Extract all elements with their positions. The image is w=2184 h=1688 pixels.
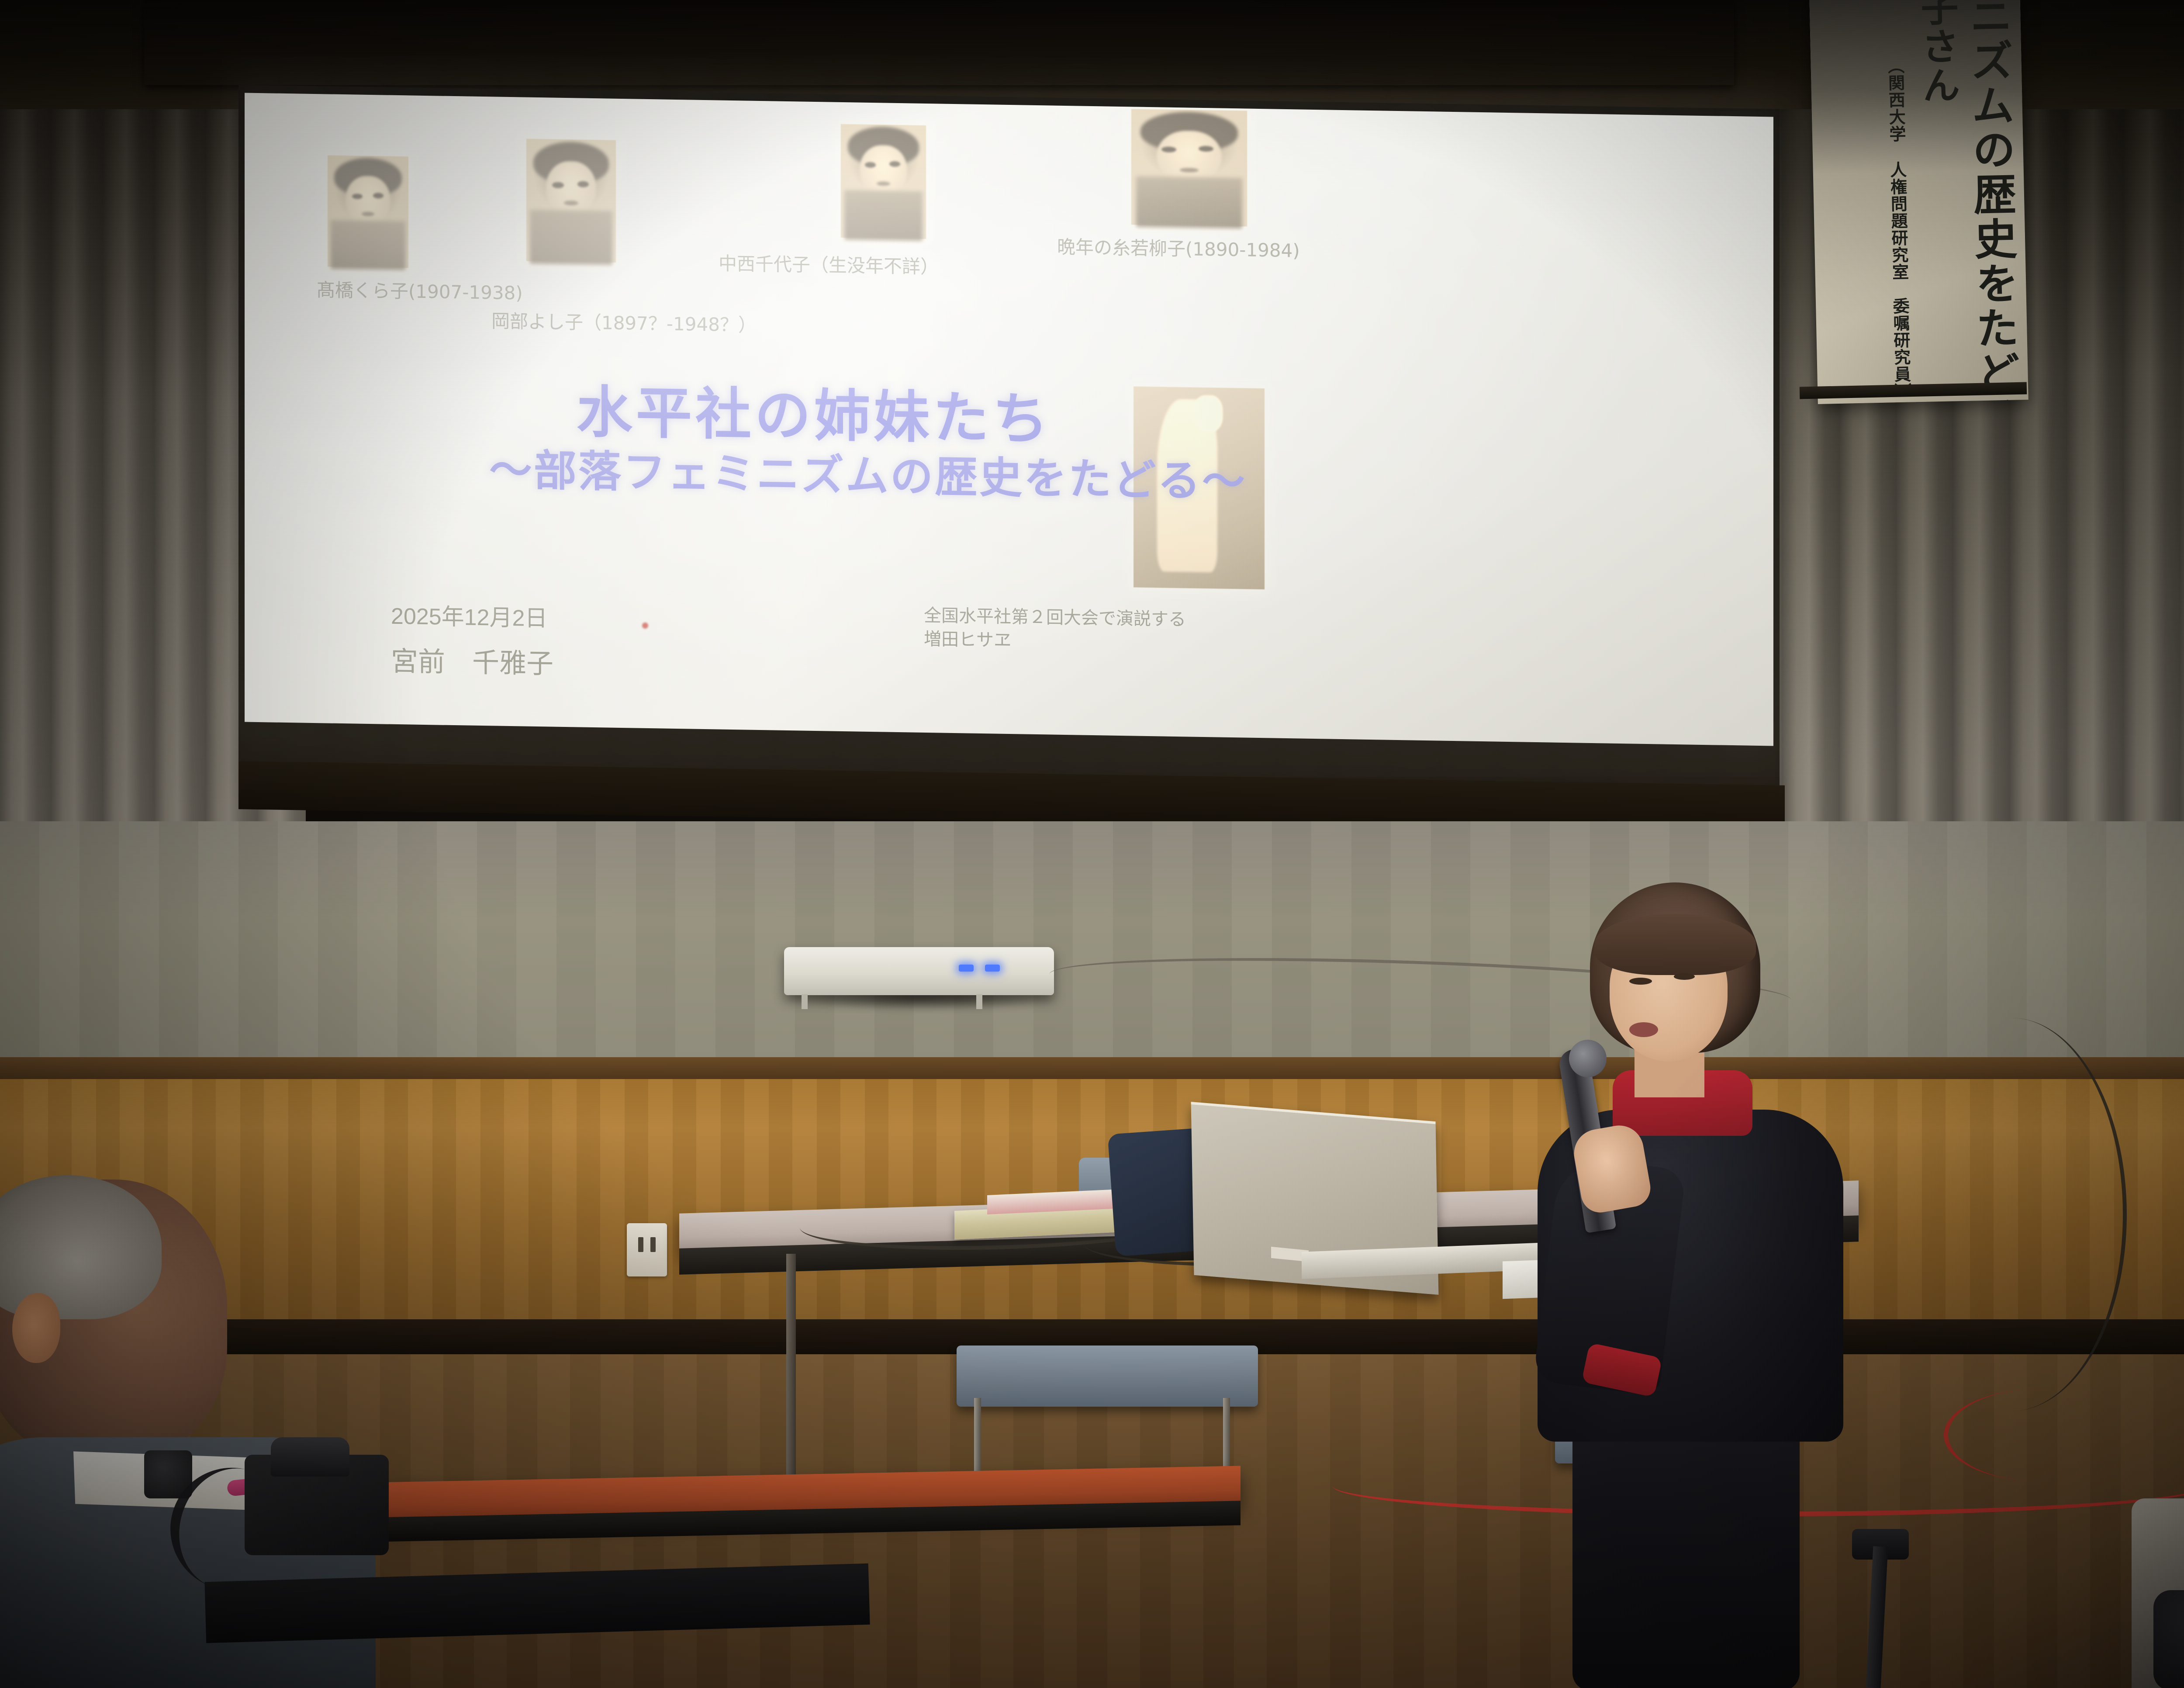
projector-lamp-led [985,965,1000,972]
lecture-hall-photo: 髙橋くら子(1907-1938) 岡部よし子（1897？-1948？） 中西千代… [0,0,2184,1688]
presenter-mouth [1629,1022,1658,1037]
event-banner: ニズムの歴史をたどる 子さん （関西大学 人権問題研究室 委嘱研究員） [1809,0,2028,404]
slide-right-photo-caption: 全国水平社第２回大会で演説する 増田ヒサヱ [924,604,1186,655]
outlet-slot-left [638,1237,643,1252]
laser-pointer-dot [642,623,648,629]
projector-feet [793,994,1046,1009]
presenter-table-leg-left [786,1254,796,1481]
banner-affiliation-text: （関西大学 人権問題研究室 委嘱研究員） [1883,57,1911,400]
outlet-slot-right [650,1237,656,1252]
projection-screen: 髙橋くら子(1907-1938) 岡部よし子（1897？-1948？） 中西千代… [245,93,1773,746]
slide-presenter: 宮前 千雅子 [391,639,553,681]
projector-foot-left [802,994,808,1009]
projector [784,947,1054,995]
slide-portrait-1 [328,155,408,268]
foreground-right-dark-object [2153,1590,2184,1688]
audience-ear [12,1293,60,1363]
valance-faint-text [188,3,546,34]
banner-name-text: 子さん [1916,0,1956,105]
slide-date: 2025年12月2日 [391,598,547,633]
chair-seat-center[interactable] [957,1346,1258,1407]
presenter-person [1520,882,1852,1538]
right-black-cable [1896,1018,2127,1411]
banner-title-text: ニズムの歴史をたどる [1965,0,2018,404]
red-cable-loop [1944,1389,2132,1481]
slide-portrait-2 [526,139,616,263]
photo-caption-3: 中西千代子（生没年不詳） [719,249,939,279]
projector-power-led [959,965,974,972]
presenter-eye-right [1674,973,1695,980]
wall-power-outlet[interactable] [627,1223,667,1276]
slide-portrait-3 [841,124,926,239]
stage-back-wall [0,821,2184,1066]
presenter-legs [1572,1420,1800,1688]
projector-foot-right [976,994,982,1009]
slide-subtitle: ～部落フェミニズムの歴史をたどる～ [489,435,1247,509]
photo-caption-4: 晩年の糸若柳子(1890-1984) [1057,232,1300,263]
presenter-fringe [1594,914,1756,975]
presenter-eye-left [1629,978,1652,985]
slide-portrait-4 [1131,109,1247,226]
photo-caption-2: 岡部よし子（1897？-1948？） [491,306,757,337]
photo-caption-1: 髙橋くら子(1907-1938) [317,275,523,305]
camera-lens-icon [271,1437,349,1477]
